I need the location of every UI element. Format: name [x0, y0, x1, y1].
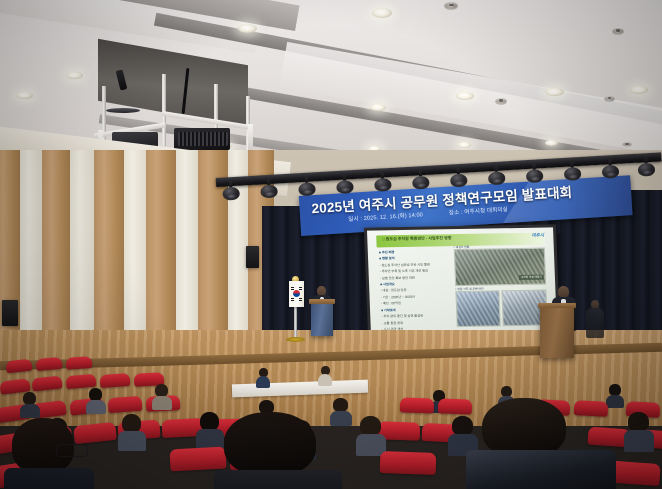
seat[interactable] [108, 396, 143, 413]
stage-light [412, 174, 430, 190]
korean-flag [289, 281, 304, 307]
judge-person [318, 366, 332, 384]
auditorium-photo: 2025년 여주시 공무원 정책연구모임 발표대회 일시 : 2025. 12.… [0, 0, 662, 489]
presentation-slide: □ 원도심 주차장 확충방안 · 사업추진 방향 여주시 ■ 추진 배경 ■ 현… [367, 227, 557, 334]
stage-light [336, 178, 354, 194]
audience-person [118, 414, 146, 448]
stage-light [564, 165, 582, 181]
downlight [16, 92, 33, 99]
slide-bullet: - 보행 안전 확보 방안 마련 [380, 275, 447, 281]
sprinkler-icon [622, 142, 632, 147]
slide-bullet: - 주차 편의 증진 및 상권 활성화 [381, 314, 448, 320]
slide-bullet: - 주차면 부족 및 노후 시설 개선 필요 [380, 268, 447, 274]
audience-person [86, 388, 106, 412]
downlight [238, 24, 257, 33]
slide-bullet-column: ■ 추진 배경 ■ 현황 분석 - 원도심 주차난 심화로 인한 시민 불편 -… [379, 249, 450, 335]
downlight [372, 8, 392, 18]
stage-light [638, 161, 656, 177]
sprinkler-icon [604, 96, 615, 102]
downlight [370, 104, 386, 111]
audience-person [624, 412, 654, 448]
downlight [545, 88, 564, 96]
downlight [630, 86, 648, 94]
stage-light [260, 182, 278, 198]
slide-bullet: - 교통 혼잡 완화 [382, 320, 449, 326]
audience-person [152, 384, 172, 408]
wall-speaker [246, 246, 259, 268]
seat[interactable] [100, 373, 131, 388]
slide-bullet: - 기간 : 2026년 ~ 2028년 [381, 294, 448, 300]
stage-light [222, 185, 240, 201]
slide-bullet: - 원도심 주차난 심화로 인한 시민 불편 [379, 262, 446, 268]
slide-bullet: ■ 현황 분석 [379, 255, 446, 261]
wall-speaker [2, 300, 18, 326]
mc-podium [311, 302, 333, 336]
stage-light [602, 163, 620, 179]
slide-aerial-photo [453, 247, 546, 286]
seat[interactable] [66, 356, 93, 370]
cable-tray [106, 108, 140, 113]
flag-base [286, 337, 305, 342]
presenter-podium [540, 306, 574, 358]
slide-bullet: - 대상 : 원도심 일원 [380, 288, 447, 294]
sprinkler-icon [495, 98, 507, 105]
slide-bullet: ■ 추진 배경 [379, 249, 446, 255]
eyeglasses [56, 444, 88, 457]
seat[interactable] [400, 397, 435, 413]
audience-person [20, 392, 40, 416]
taeguk-symbol [293, 290, 300, 297]
audience-person [356, 416, 386, 452]
slide-logo: 여주시 [531, 233, 544, 239]
slide-bullet: - 예산 : 00억원 [381, 301, 448, 307]
slide-header-text: □ 원도심 주차장 확충방안 · 사업추진 방향 [382, 235, 452, 242]
slide-site-photo-1 [455, 291, 501, 327]
stage-light [488, 169, 506, 185]
foreground-person-center [214, 412, 334, 489]
judge-person [256, 368, 270, 386]
stage-light [298, 180, 316, 196]
seat[interactable] [380, 451, 437, 475]
slide-callout-label: 주차장 조성 예정지 [519, 274, 544, 279]
stage-light [450, 172, 468, 188]
downlight [458, 142, 471, 148]
stage-light [526, 167, 544, 183]
sprinkler-icon [444, 2, 458, 10]
seat[interactable] [36, 357, 63, 371]
downlight [456, 92, 474, 100]
slide-bullet: ■ 기대효과 [381, 307, 448, 313]
sprinkler-icon [612, 28, 624, 35]
slide-bullet: ■ 사업개요 [380, 281, 447, 287]
foreground-person-right [466, 398, 596, 489]
rack-vents [178, 132, 228, 146]
downlight [66, 72, 83, 79]
seat[interactable] [65, 374, 96, 390]
lift-rail [248, 124, 253, 152]
staff-person [586, 300, 604, 348]
projection-screen: □ 원도심 주차장 확충방안 · 사업추진 방향 여주시 ■ 추진 배경 ■ 현… [364, 224, 560, 337]
audience-person [606, 384, 624, 406]
stage-light [374, 176, 392, 192]
downlight [545, 140, 558, 146]
